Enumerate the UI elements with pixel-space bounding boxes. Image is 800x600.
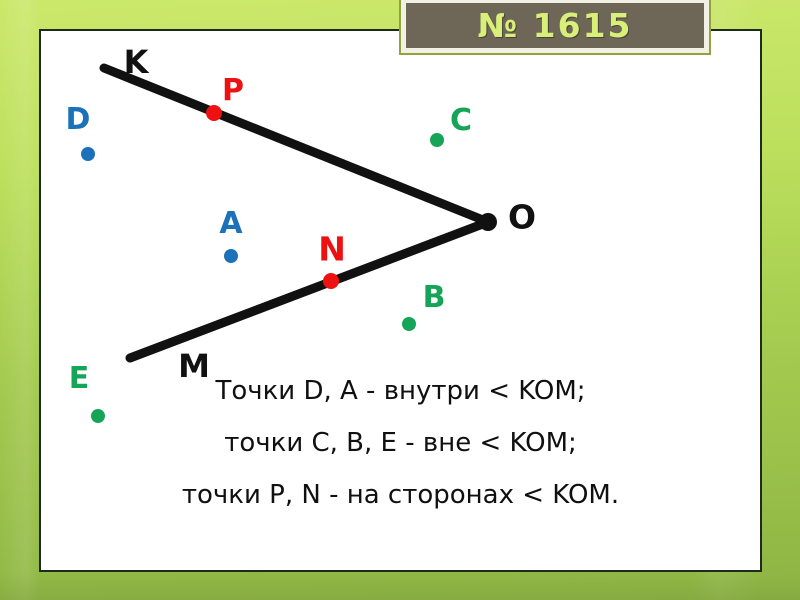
point-label-k: K bbox=[124, 46, 149, 78]
background-bottom-band bbox=[0, 574, 800, 600]
caption-line-1: Точки D, A - внутри < KOM; bbox=[39, 378, 762, 404]
point-label-b: B bbox=[423, 283, 446, 313]
point-label-a: A bbox=[219, 209, 242, 239]
point-label-d: D bbox=[66, 105, 91, 135]
caption-line-3: точки P, N - на сторонах < KOM. bbox=[39, 482, 762, 508]
slide-canvas: K D P C A N O B E M Точки D, A - внутри … bbox=[0, 0, 800, 600]
point-label-n: N bbox=[318, 233, 346, 266]
page-title: № 1615 bbox=[477, 9, 632, 42]
caption-block: Точки D, A - внутри < KOM; точки C, B, E… bbox=[39, 378, 762, 508]
point-label-c: C bbox=[450, 106, 472, 136]
point-label-p: P bbox=[222, 76, 244, 106]
caption-line-2: точки C, B, E - вне < KOM; bbox=[39, 430, 762, 456]
point-label-o: O bbox=[508, 201, 536, 234]
title-banner: № 1615 bbox=[399, 0, 711, 55]
title-banner-inner: № 1615 bbox=[406, 3, 704, 48]
